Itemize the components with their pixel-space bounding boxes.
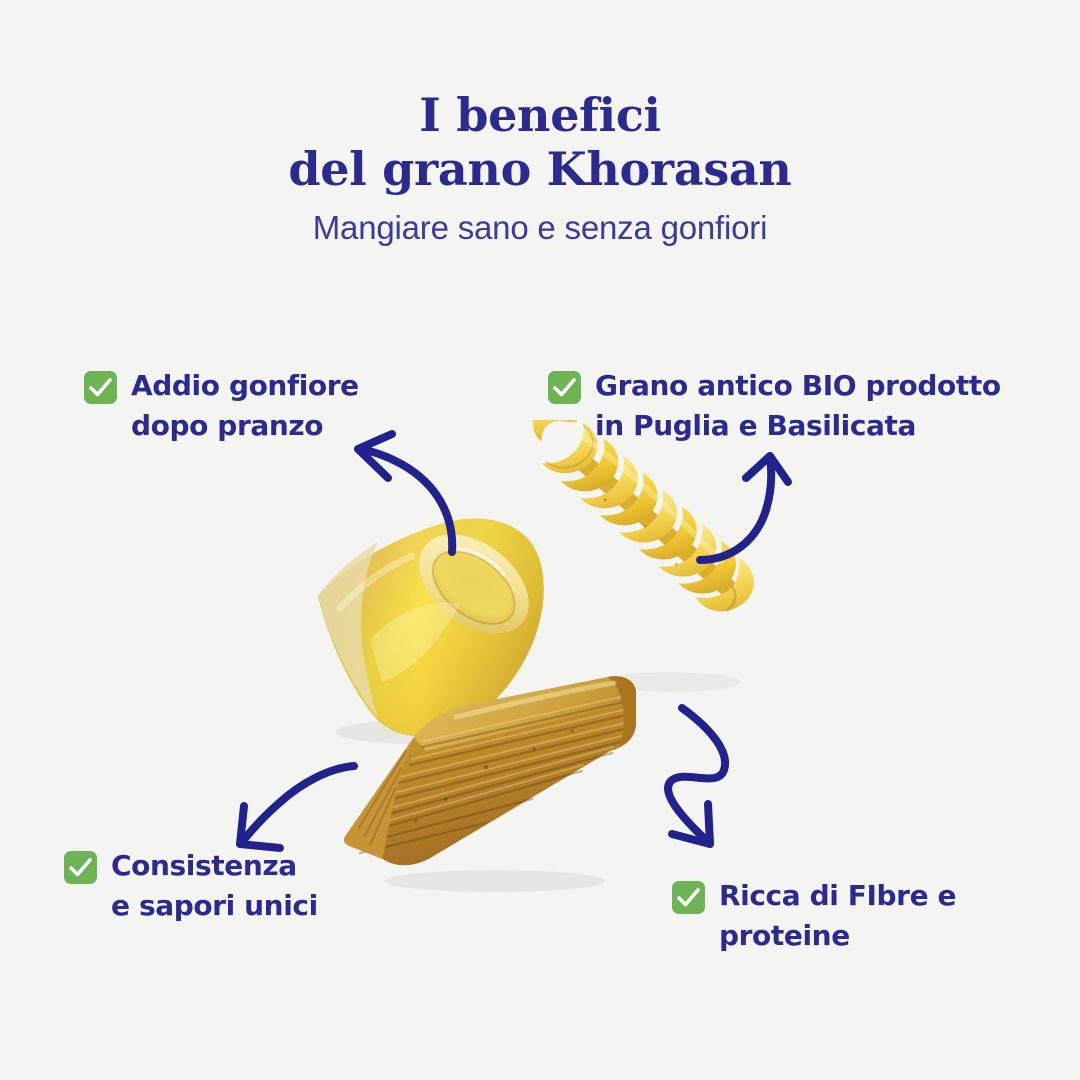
header: I benefici del grano Khorasan Mangiare s… [0,88,1080,247]
fusilli-pasta-image [520,420,790,700]
benefit-label: Consistenza e sapori unici [111,846,318,926]
benefit-label: Grano antico BIO prodotto in Puglia e Ba… [595,366,1001,446]
curved-arrow-down-icon [652,694,782,862]
benefit-label: Addio gonfiore dopo pranzo [131,366,359,446]
check-icon [672,881,705,914]
benefit-item-ricca-fibre-proteine[interactable]: Ricca di FIbre e proteine [672,876,1012,956]
benefit-label: Ricca di FIbre e proteine [719,876,956,956]
infographic-canvas: I benefici del grano Khorasan Mangiare s… [0,0,1080,1080]
check-icon [84,371,117,404]
page-title: I benefici del grano Khorasan [0,88,1080,197]
benefit-item-addio-gonfiore[interactable]: Addio gonfiore dopo pranzo [84,366,414,446]
check-icon [548,371,581,404]
benefit-item-grano-antico-bio[interactable]: Grano antico BIO prodotto in Puglia e Ba… [548,366,1048,446]
title-line-2: del grano Khorasan [0,142,1080,196]
title-line-1: I benefici [419,88,660,142]
page-subtitle: Mangiare sano e senza gonfiori [0,209,1080,247]
check-icon [64,851,97,884]
benefit-item-consistenza-sapori[interactable]: Consistenza e sapori unici [64,846,384,926]
